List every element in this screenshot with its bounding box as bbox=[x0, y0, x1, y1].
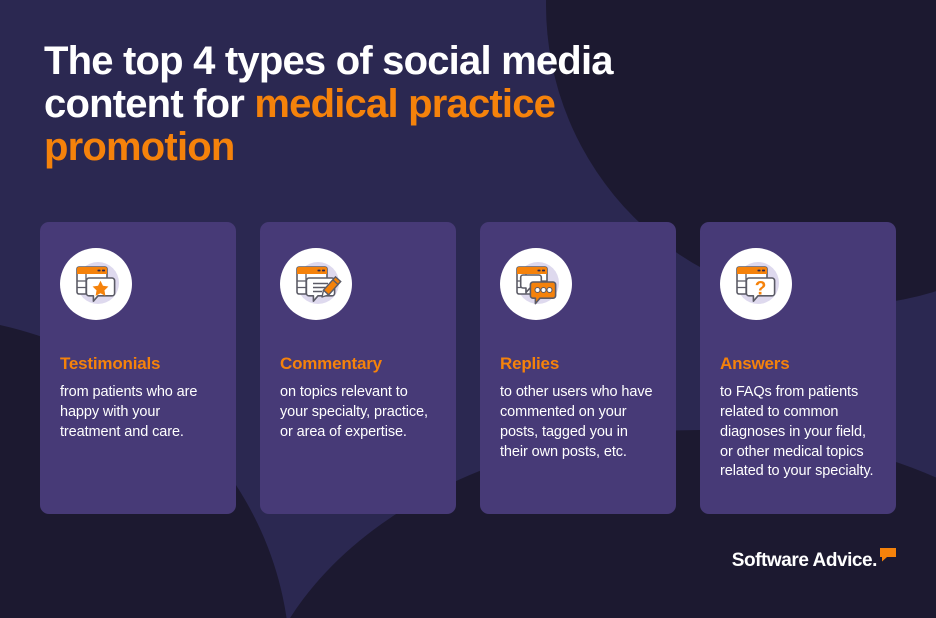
card-title: Testimonials bbox=[60, 354, 216, 374]
card-body: to FAQs from patients related to common … bbox=[720, 383, 876, 482]
card-title: Commentary bbox=[280, 354, 436, 374]
headline-line-1: The top 4 types of social bbox=[44, 39, 491, 83]
card-title: Replies bbox=[500, 354, 656, 374]
browser-question-bubble-icon: ? bbox=[720, 248, 792, 320]
page-title: The top 4 types of social media content … bbox=[44, 40, 664, 170]
card-commentary: Commentary on topics relevant to your sp… bbox=[260, 222, 456, 514]
logo-wordmark: Software Advice. bbox=[732, 551, 877, 570]
card-title: Answers bbox=[720, 354, 876, 374]
card-body: to other users who have commented on you… bbox=[500, 383, 656, 462]
browser-pencil-bubble-icon bbox=[280, 248, 352, 320]
card-testimonials: Testimonials from patients who are happy… bbox=[40, 222, 236, 514]
content-type-card-list: Testimonials from patients who are happy… bbox=[40, 222, 896, 514]
infographic-poster: The top 4 types of social media content … bbox=[0, 0, 936, 618]
software-advice-logo: Software Advice. bbox=[732, 551, 896, 570]
card-replies: Replies to other users who have commente… bbox=[480, 222, 676, 514]
headline-accent-medical: medical bbox=[254, 82, 397, 126]
svg-text:?: ? bbox=[755, 279, 767, 300]
browser-chat-bubbles-icon bbox=[500, 248, 572, 320]
speech-bubble-icon bbox=[880, 548, 896, 569]
card-body: from patients who are happy with your tr… bbox=[60, 383, 216, 443]
browser-star-bubble-icon bbox=[60, 248, 132, 320]
card-answers: ? Answers to FAQs from patients related … bbox=[700, 222, 896, 514]
card-body: on topics relevant to your specialty, pr… bbox=[280, 383, 436, 443]
